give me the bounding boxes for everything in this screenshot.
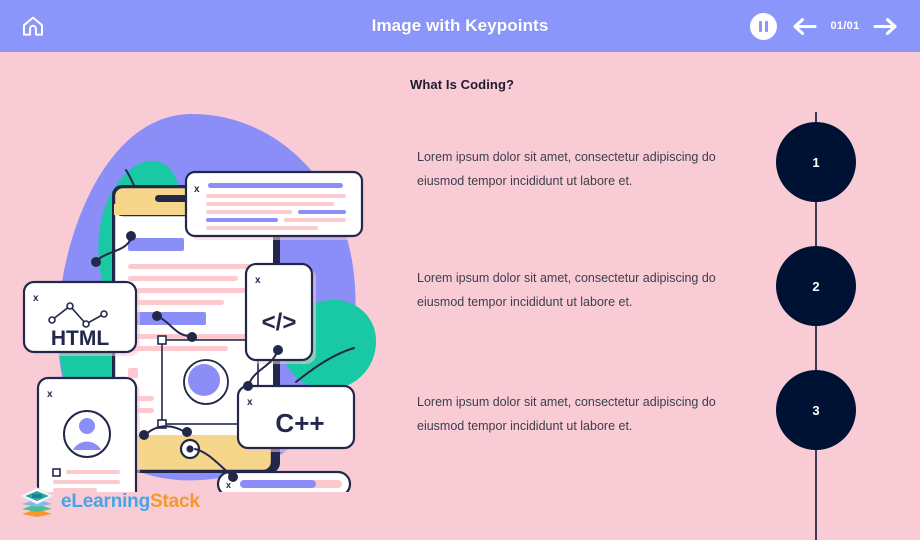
progress-pill-card: x bbox=[218, 472, 354, 492]
pause-button[interactable] bbox=[750, 13, 777, 40]
profile-card: x bbox=[38, 378, 140, 492]
brand-logo: eLearningStack bbox=[20, 487, 200, 517]
keypoints-timeline: 1 2 3 bbox=[776, 52, 860, 540]
svg-text:x: x bbox=[247, 397, 253, 408]
logo-text-accent: Stack bbox=[150, 491, 200, 512]
keypoint-node-3[interactable]: 3 bbox=[776, 370, 856, 450]
previous-button[interactable] bbox=[790, 17, 817, 36]
svg-text:x: x bbox=[33, 293, 39, 304]
pause-icon bbox=[759, 21, 762, 32]
logo-text: eLearningStack bbox=[61, 491, 200, 513]
slide-stage: x x HTML bbox=[0, 52, 920, 540]
next-button[interactable] bbox=[873, 17, 900, 36]
keypoint-text: Lorem ipsum dolor sit amet, consectetur … bbox=[417, 266, 737, 314]
content-heading: What Is Coding? bbox=[410, 77, 514, 92]
svg-text:x: x bbox=[194, 184, 200, 195]
page-counter: 01/01 bbox=[830, 20, 860, 32]
svg-text:x: x bbox=[47, 389, 53, 400]
header-controls: 01/01 bbox=[750, 0, 900, 52]
keypoint-node-1[interactable]: 1 bbox=[776, 122, 856, 202]
cpp-card-label: C++ bbox=[275, 408, 324, 438]
arrow-right-icon bbox=[873, 17, 900, 36]
html-card-label: HTML bbox=[51, 327, 109, 350]
pause-icon bbox=[765, 21, 768, 32]
layered-stack-icon bbox=[20, 487, 54, 517]
svg-text:x: x bbox=[226, 480, 231, 490]
coding-illustration-svg: x x HTML bbox=[0, 52, 400, 492]
keypoint-text: Lorem ipsum dolor sit amet, consectetur … bbox=[417, 145, 737, 193]
coding-illustration: x x HTML bbox=[0, 52, 400, 492]
arrow-left-icon bbox=[790, 17, 817, 36]
code-tag-card-label: </> bbox=[262, 309, 297, 336]
keypoint-node-2[interactable]: 2 bbox=[776, 246, 856, 326]
svg-text:x: x bbox=[255, 275, 261, 286]
code-lines-card: x bbox=[186, 172, 366, 240]
logo-text-primary: eLearning bbox=[61, 491, 150, 512]
app-header: Image with Keypoints 01/01 bbox=[0, 0, 920, 52]
keypoint-text: Lorem ipsum dolor sit amet, consectetur … bbox=[417, 390, 737, 438]
cpp-card: x C++ bbox=[238, 386, 358, 452]
html-card: x HTML bbox=[24, 282, 140, 356]
